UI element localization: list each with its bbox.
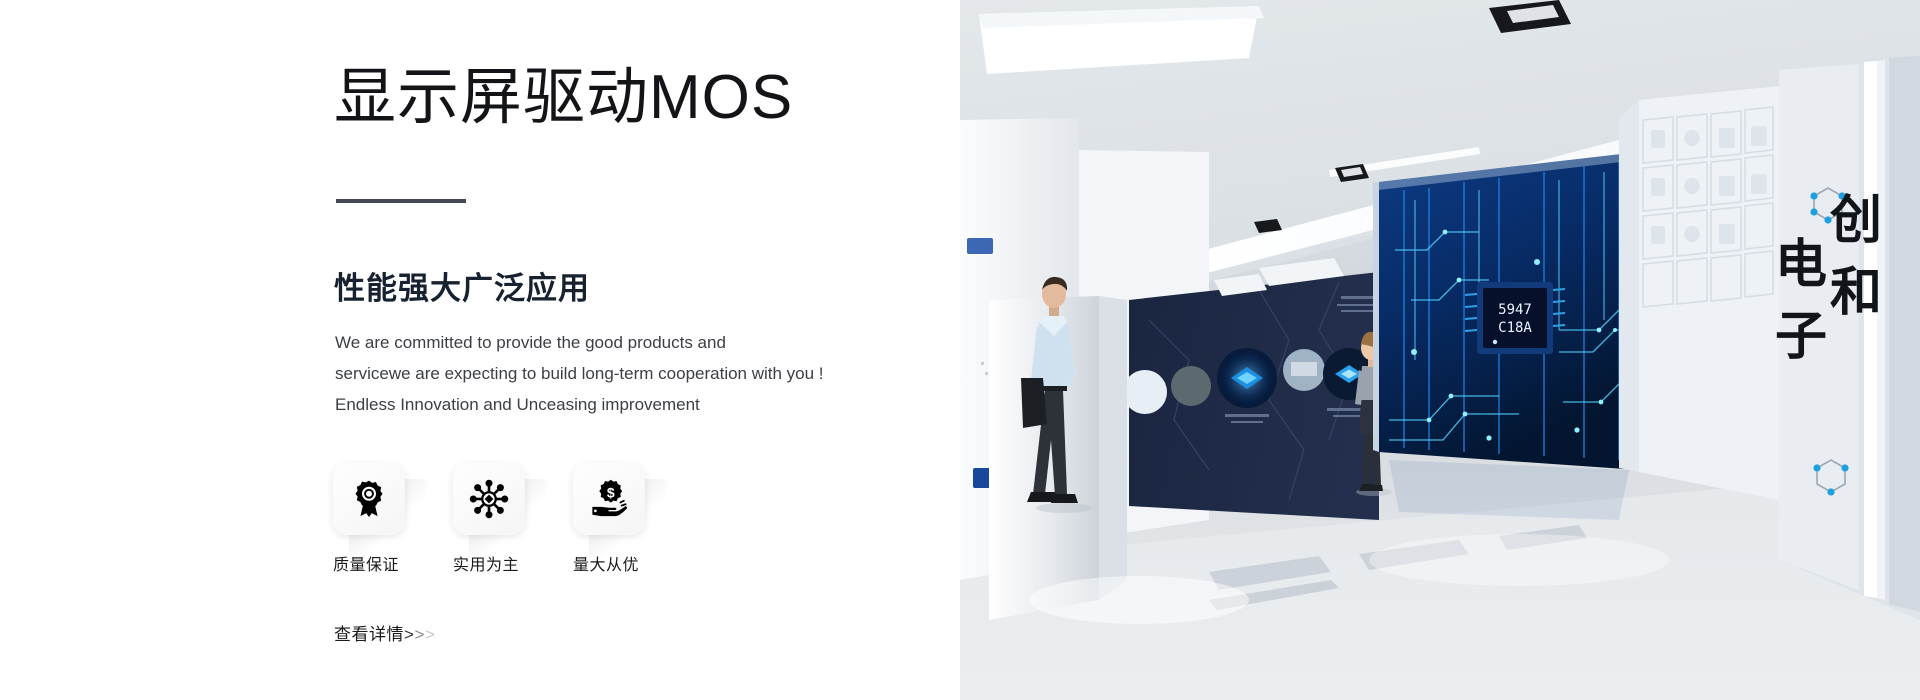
feature-item-bulk-discount[interactable]: $ 量大从优 <box>573 463 665 575</box>
feature-item-practical[interactable]: 实用为主 <box>453 463 545 575</box>
chip-text-line1: 5947 <box>1498 302 1532 318</box>
description-line-2: servicewe are expecting to build long-te… <box>335 358 895 389</box>
feature-icon-tile <box>333 463 405 535</box>
svg-text:$: $ <box>607 485 615 501</box>
feature-label: 实用为主 <box>453 551 545 575</box>
chip-graphic: 5947 C18A <box>1465 282 1565 354</box>
feature-icon-tile: $ <box>573 463 645 535</box>
wall-sign-left-char1: 电 <box>1775 235 1827 295</box>
hand-money-icon: $ <box>588 478 630 520</box>
showroom-photo: 5947 C18A <box>959 0 1920 700</box>
subtitle: 性能强大广泛应用 <box>334 263 590 308</box>
description-paragraph: We are committed to provide the good pro… <box>335 327 895 420</box>
description-line-3: Endless Innovation and Unceasing improve… <box>335 389 895 420</box>
cta-chevron-2: > <box>414 625 424 644</box>
wall-sign-left-char2: 子 <box>1775 307 1827 367</box>
feature-label: 量大从优 <box>573 551 665 575</box>
description-line-1: We are committed to provide the good pro… <box>335 327 895 358</box>
chip-text-line2: C18A <box>1498 320 1532 336</box>
showroom-illustration: 5947 C18A <box>959 0 1920 700</box>
view-details-link[interactable]: 查看详情>>> <box>334 620 435 645</box>
led-display-wall: 5947 C18A <box>1373 152 1639 470</box>
feature-label: 质量保证 <box>333 551 425 575</box>
wall-sign-right-char1: 创 <box>1829 191 1882 251</box>
award-ribbon-icon <box>348 478 390 520</box>
left-text-panel: 显示屏驱动MOS 性能强大广泛应用 We are committed to pr… <box>0 0 960 700</box>
page-title: 显示屏驱动MOS <box>334 62 793 133</box>
cta-chevron-1: > <box>404 625 414 644</box>
wall-sign-right-char2: 和 <box>1830 263 1882 323</box>
hero-banner: 显示屏驱动MOS 性能强大广泛应用 We are committed to pr… <box>0 0 1920 700</box>
title-divider <box>336 199 466 203</box>
feature-item-quality[interactable]: 质量保证 <box>333 463 425 575</box>
network-hub-icon <box>468 478 510 520</box>
feature-list: 质量保证 <box>333 463 665 575</box>
cta-text: 查看详情 <box>334 625 404 644</box>
cta-chevron-3: > <box>425 625 435 644</box>
feature-icon-tile <box>453 463 525 535</box>
